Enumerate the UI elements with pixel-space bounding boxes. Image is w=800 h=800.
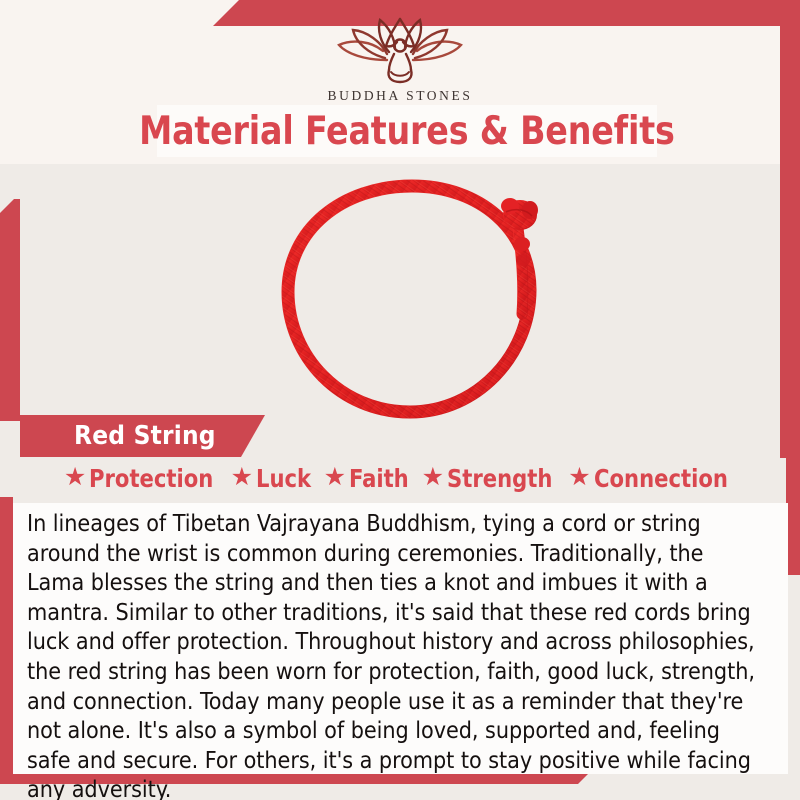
page-title-band: Material Features & Benefits <box>157 105 657 157</box>
page-title: Material Features & Benefits <box>139 109 675 154</box>
star-icon: ★ <box>422 465 444 490</box>
decorative-bar-left-upper <box>0 199 20 421</box>
brand-name: BUDDHA STONES <box>0 88 800 104</box>
star-icon: ★ <box>64 465 86 490</box>
description-text: In lineages of Tibetan Vajrayana Buddhis… <box>27 509 763 800</box>
benefit-label: Strength <box>447 464 552 493</box>
star-icon: ★ <box>568 465 590 490</box>
lotus-meditation-icon <box>325 14 475 86</box>
product-name-ribbon: Red String <box>20 415 265 457</box>
benefit-label: Protection <box>89 464 213 493</box>
decorative-bar-left-lower <box>0 497 13 774</box>
benefits-row: ★ Protection ★ Luck ★ Faith ★ Strength ★… <box>0 464 800 493</box>
infographic-page: BUDDHA STONES Material Features & Benefi… <box>0 0 800 800</box>
benefit-item: ★ Connection <box>568 464 736 493</box>
benefit-label: Luck <box>256 464 311 493</box>
benefit-item: ★ Strength <box>422 464 560 493</box>
red-braided-string-bracelet-image <box>222 168 602 430</box>
star-icon: ★ <box>231 465 253 490</box>
product-name-label: Red String <box>74 421 216 451</box>
benefit-label: Faith <box>349 464 409 493</box>
benefit-item: ★ Faith <box>324 464 413 493</box>
benefit-label: Connection <box>594 464 728 493</box>
benefit-item: ★ Luck <box>231 464 315 493</box>
description-panel: In lineages of Tibetan Vajrayana Buddhis… <box>13 503 788 774</box>
star-icon: ★ <box>324 465 346 490</box>
benefit-item: ★ Protection <box>64 464 222 493</box>
brand-logo: BUDDHA STONES <box>0 14 800 104</box>
